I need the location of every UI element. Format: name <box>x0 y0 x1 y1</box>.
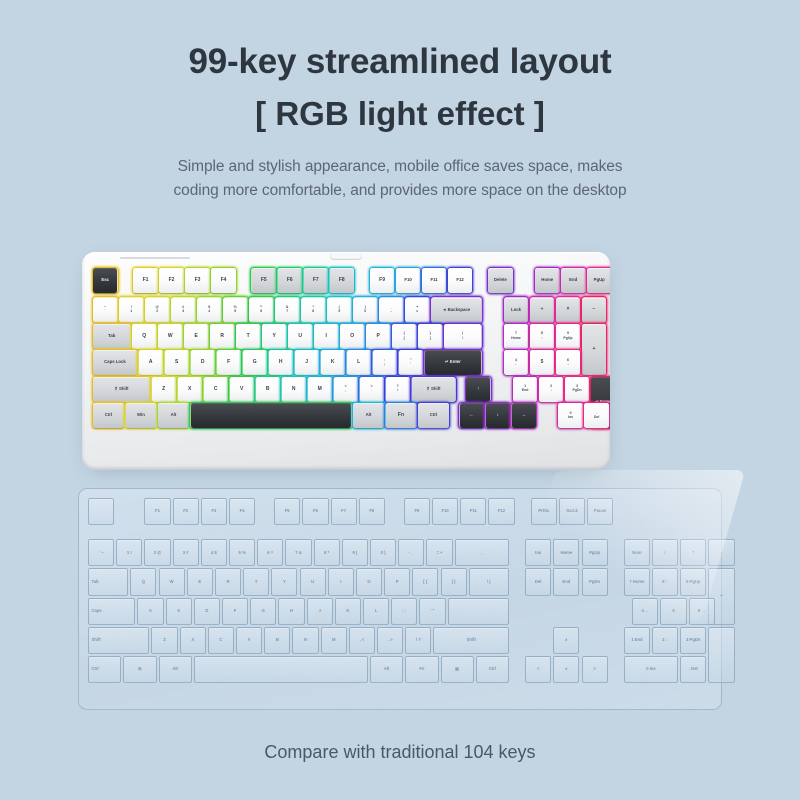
key-legend: Caps Lock <box>104 360 126 365</box>
ghost-key-legend: 3 # <box>183 551 189 555</box>
key-legend: += <box>416 306 418 314</box>
ghost-key-legend: F7 <box>341 509 346 513</box>
key-legend: 8↑ <box>541 332 543 340</box>
key-legend: R <box>220 334 224 339</box>
key-legend: I <box>326 334 327 339</box>
key-alt[interactable]: Alt <box>353 403 384 428</box>
ghost-key-legend: Home <box>561 551 573 555</box>
key-delete[interactable]: Delete <box>488 268 512 293</box>
key-legend: F1 <box>143 278 149 283</box>
ghost-key-legend: 0 Ins <box>646 667 656 671</box>
key-end[interactable]: 1End <box>513 377 537 402</box>
ghost-key-legend: ▤ <box>455 667 459 671</box>
key-f5[interactable]: F5 <box>252 268 276 293</box>
key-legend-bottom: Ins <box>568 416 573 420</box>
ghost-key-legend: ] } <box>452 580 456 584</box>
key-p[interactable]: P <box>366 324 390 349</box>
key-f11[interactable]: F11 <box>422 268 446 293</box>
key-tab[interactable]: Tab <box>93 324 130 349</box>
ghost-key-b: B <box>264 627 290 654</box>
key-u[interactable]: U <box>288 324 312 349</box>
ghost-key-key: - <box>708 539 734 566</box>
key-key[interactable]: → <box>512 403 536 428</box>
ghost-key-legend: 7 Home <box>629 580 644 584</box>
key-enter[interactable]: ↵ Enter <box>425 350 482 375</box>
ghost-key-legend: M <box>332 638 336 642</box>
key-legend-bottom: ` <box>105 310 106 314</box>
key-legend: ⇧ Shift <box>426 387 440 392</box>
key-legend-bottom: Home <box>511 337 521 341</box>
key-legend: .Del <box>594 412 599 420</box>
key-legend: × <box>567 307 570 312</box>
ghost-key-legend: Ins <box>535 551 541 555</box>
ghost-key-key: ∧ <box>553 627 579 654</box>
key-5[interactable]: 5 <box>530 350 554 375</box>
ghost-key-legend: , < <box>360 638 365 642</box>
ghost-key-legend: W <box>170 580 174 584</box>
key-ctrl[interactable]: Ctrl <box>418 403 449 428</box>
key-k[interactable]: K <box>321 350 345 375</box>
key-key[interactable]: |\ <box>444 324 481 349</box>
ghost-key-legend: F2 <box>183 509 188 513</box>
ghost-key-9-pgup: 9 PgUp <box>680 568 706 595</box>
key-f10[interactable]: F10 <box>396 268 420 293</box>
keyboard-case: EscF1F2F3F4F5F6F7F8F9F10F11F12DeleteHome… <box>82 252 610 470</box>
ghost-key-ins: Ins <box>525 539 551 566</box>
ghost-key-legend: / <box>665 551 666 555</box>
space-key[interactable] <box>191 403 352 428</box>
key-0[interactable]: )0 <box>353 298 377 323</box>
key-key[interactable]: 8↑ <box>530 324 554 349</box>
key-legend: Alt <box>171 413 177 418</box>
key-c[interactable]: C <box>204 377 228 402</box>
key-legend: ← <box>469 413 474 418</box>
key-shift[interactable]: ⇧ Shift <box>93 377 150 402</box>
key-legend: ↵ Enter <box>445 360 461 365</box>
ghost-key-legend: 4 ← <box>642 609 650 613</box>
key-i[interactable]: I <box>314 324 338 349</box>
hero-description-line-2: coding more comfortable, and provides mo… <box>0 179 800 203</box>
key-legend: N <box>292 387 296 392</box>
traditional-keyboard-outline: F1F2F3F4F5F6F7F8F9F10F11F12PrtScScrLkPau… <box>78 488 722 710</box>
key-key[interactable]: ?/ <box>386 377 410 402</box>
ghost-key-legend: 5 % <box>238 551 245 555</box>
ghost-key-legend: F10 <box>442 509 449 513</box>
key-legend: E <box>195 334 198 339</box>
key-alt[interactable]: Alt <box>158 403 189 428</box>
key-f6[interactable]: F6 <box>278 268 302 293</box>
rgb-keyboard-photo: EscF1F2F3F4F5F6F7F8F9F10F11F12DeleteHome… <box>82 252 610 470</box>
ghost-key-legend: \ | <box>487 580 491 584</box>
ghost-key-pause: Pause <box>587 498 613 525</box>
ghost-key-legend: 1 ! <box>127 551 132 555</box>
ghost-key-shift: Shift <box>433 627 509 654</box>
ghost-key-legend: Y <box>283 580 286 584</box>
ghost-key-3-pgdn: 3 PgDn <box>680 627 706 654</box>
hero-description: Simple and stylish appearance, mobile of… <box>0 155 800 203</box>
key-fn[interactable]: Fn <box>386 403 417 428</box>
ghost-key-legend: 6 ^ <box>267 551 273 555</box>
ghost-key-legend: N <box>304 638 307 642</box>
key-legend-bottom: , <box>345 389 346 393</box>
key-legend: ?/ <box>397 385 399 393</box>
key-legend: L <box>357 360 360 365</box>
ghost-key-legend: 2 ↓ <box>662 638 668 642</box>
page-title: 99-key streamlined layout <box>0 42 800 82</box>
key-legend: Ctrl <box>105 413 112 418</box>
ghost-key-f5: F5 <box>274 498 300 525</box>
ghost-key-caps: Caps <box>88 598 135 625</box>
ghost-key-legend: J <box>318 609 320 613</box>
key-key[interactable]: :; <box>373 350 397 375</box>
ghost-key-v: V <box>236 627 262 654</box>
key-q[interactable]: Q <box>132 324 156 349</box>
key-legend-bottom: - <box>391 310 392 314</box>
key-legend: ↑ <box>477 387 480 392</box>
key-a[interactable]: A <box>139 350 163 375</box>
key-legend: 9PgUp <box>563 332 572 340</box>
key-shift[interactable]: ⇧ Shift <box>412 377 456 402</box>
key-lock[interactable]: Lock <box>504 298 528 323</box>
key-w[interactable]: W <box>158 324 182 349</box>
key-end[interactable]: End <box>561 268 585 293</box>
key-key[interactable]: <, <box>334 377 358 402</box>
ghost-key-key: = + <box>426 539 452 566</box>
key-legend: S <box>175 360 178 365</box>
key-key[interactable]: _- <box>379 298 403 323</box>
ghost-key-legend: E <box>198 580 201 584</box>
key-5[interactable]: %5 <box>223 298 247 323</box>
ghost-key-legend: X <box>191 638 194 642</box>
ghost-key-legend: 4 $ <box>211 551 217 555</box>
key-legend-bottom: ← <box>514 363 518 367</box>
key-legend: H <box>279 360 283 365</box>
ghost-key-7: 7 & <box>285 539 311 566</box>
key-legend: ~` <box>104 306 106 314</box>
key-legend: Win <box>137 413 145 418</box>
ghost-key-legend: Alt <box>384 667 390 671</box>
ghost-key-key: , < <box>349 627 375 654</box>
key-v[interactable]: V <box>230 377 254 402</box>
ghost-key-legend: 7 & <box>295 551 302 555</box>
key-g[interactable]: G <box>243 350 267 375</box>
key-f9[interactable]: F9 <box>370 268 394 293</box>
ghost-key-end: End <box>553 568 579 595</box>
ghost-key-num: Num <box>624 539 650 566</box>
ghost-key-del: . Del <box>680 656 706 683</box>
ghost-key-f7: F7 <box>331 498 357 525</box>
ghost-key-legend: ; : <box>402 609 406 613</box>
hero-section: 99-key streamlined layout [ RGB light ef… <box>0 0 800 203</box>
key-legend-bottom: 6 <box>260 310 262 314</box>
key-f4[interactable]: F4 <box>211 268 235 293</box>
key-home[interactable]: Home <box>535 268 559 293</box>
key-legend-bottom: 8 <box>312 310 314 314</box>
key-x[interactable]: X <box>178 377 202 402</box>
key-legend-bottom: → <box>566 363 570 367</box>
key-2[interactable]: @2 <box>145 298 169 323</box>
key-pgup[interactable]: PgUp <box>587 268 610 293</box>
ghost-key-2: 2 ↓ <box>652 627 678 654</box>
key-backspace[interactable]: ◄ Backspace <box>431 298 481 323</box>
key-legend: Alt <box>366 413 372 418</box>
key-f1[interactable]: F1 <box>133 268 157 293</box>
ghost-key-legend: F4 <box>240 509 245 513</box>
key-3[interactable]: #3 <box>171 298 195 323</box>
key-8[interactable]: *8 <box>301 298 325 323</box>
key-legend: $4 <box>208 306 210 314</box>
ghost-key-key: ⊞ <box>123 656 156 683</box>
key-legend-bottom: 2 <box>156 310 158 314</box>
ghost-key-g: G <box>250 598 276 625</box>
key-legend: Home <box>541 278 553 283</box>
ghost-key-q: Q <box>130 568 156 595</box>
ghost-key-6: 6 ^ <box>257 539 283 566</box>
ghost-key-key: ; : <box>391 598 417 625</box>
ghost-key-legend: Caps <box>92 609 102 613</box>
ghost-key-5: 5 <box>660 598 686 625</box>
ghost-key-legend: F5 <box>285 509 290 513</box>
ghost-key-f6: F6 <box>302 498 328 525</box>
key-key[interactable]: 6→ <box>556 350 580 375</box>
ghost-key-pgup: PgUp <box>582 539 608 566</box>
key-legend: |\ <box>462 332 463 340</box>
key-key[interactable]: "' <box>399 350 423 375</box>
ghost-key-legend: F11 <box>470 509 477 513</box>
key-legend: F3 <box>195 278 201 283</box>
key-key[interactable]: ~` <box>93 298 117 323</box>
key-legend: Tab <box>108 334 115 339</box>
ghost-key-key <box>194 656 368 683</box>
key-key[interactable]: ← <box>460 403 484 428</box>
ghost-key-key: ▤ <box>441 656 474 683</box>
key-h[interactable]: H <box>269 350 293 375</box>
ghost-key-1: 1 ! <box>116 539 142 566</box>
ghost-key-fn: Fn <box>405 656 438 683</box>
key-del[interactable]: .Del <box>584 403 608 428</box>
key-legend: V <box>240 387 243 392</box>
key-legend: B <box>266 387 270 392</box>
key-esc[interactable]: Esc <box>93 268 117 293</box>
key-legend: }] <box>430 332 431 340</box>
key-ctrl[interactable]: Ctrl <box>93 403 124 428</box>
key-legend-bottom: 3 <box>182 310 184 314</box>
key-legend: 2↓ <box>550 385 552 393</box>
key-key[interactable]: ÷ <box>530 298 554 323</box>
ghost-key-e: E <box>187 568 213 595</box>
ghost-key-ctrl: Ctrl <box>476 656 509 683</box>
key-legend: 6→ <box>566 359 570 367</box>
key-o[interactable]: O <box>340 324 364 349</box>
key-legend: G <box>253 360 257 365</box>
key-key[interactable]: {[ <box>392 324 416 349</box>
key-home[interactable]: 7Home <box>504 324 528 349</box>
key-legend: Q <box>142 334 146 339</box>
ghost-key-d: D <box>194 598 220 625</box>
ghost-key-2: 2 @ <box>144 539 170 566</box>
ghost-key-z: Z <box>151 627 177 654</box>
key-legend: )0 <box>364 306 366 314</box>
key-key[interactable]: − <box>582 298 606 323</box>
ghost-key-f12: F12 <box>488 498 514 525</box>
ghost-key-key <box>448 598 509 625</box>
ghost-key-legend: ∧ <box>565 638 568 642</box>
key-r[interactable]: R <box>210 324 234 349</box>
key-legend-bottom: 9 <box>338 310 340 314</box>
ghost-key-legend: 6 → <box>698 609 706 613</box>
ghost-key-legend: / ? <box>416 638 421 642</box>
ghost-key-4: 4 $ <box>201 539 227 566</box>
key-legend-bottom: 0 <box>364 310 366 314</box>
key-s[interactable]: S <box>165 350 189 375</box>
ghost-key-s: S <box>166 598 192 625</box>
key-legend-bottom: 5 <box>234 310 236 314</box>
ghost-key-t: T <box>243 568 269 595</box>
key-f[interactable]: F <box>217 350 241 375</box>
key-legend: F7 <box>313 278 319 283</box>
ghost-key-key: ' " <box>419 598 445 625</box>
key-legend-bottom: End <box>522 389 529 393</box>
key-win[interactable]: Win <box>126 403 157 428</box>
ghost-key-0: 0 ) <box>370 539 396 566</box>
ghost-key-legend: End <box>562 580 570 584</box>
key-f12[interactable]: F12 <box>448 268 472 293</box>
ghost-key-ctrl: Ctrl <box>88 656 121 683</box>
key-e[interactable]: E <box>184 324 208 349</box>
ghost-key-legend: F1 <box>155 509 160 513</box>
ghost-key-legend: F12 <box>498 509 505 513</box>
key-z[interactable]: Z <box>152 377 176 402</box>
key-legend: P <box>377 334 380 339</box>
hero-description-line-1: Simple and stylish appearance, mobile of… <box>0 155 800 179</box>
key-key[interactable]: ↓ <box>486 403 510 428</box>
key-legend: D <box>201 360 205 365</box>
key-1[interactable]: !1 <box>119 298 143 323</box>
ghost-key-f8: F8 <box>359 498 385 525</box>
ghost-key-legend: F9 <box>414 509 419 513</box>
keyboard-keyplate: EscF1F2F3F4F5F6F7F8F9F10F11F12DeleteHome… <box>93 268 599 456</box>
key-key[interactable]: + <box>582 324 606 375</box>
key-legend: F8 <box>339 278 345 283</box>
key-legend: "' <box>410 359 412 367</box>
key-key[interactable]: 2↓ <box>539 377 563 402</box>
key-key[interactable]: × <box>556 298 580 323</box>
key-key[interactable]: += <box>405 298 429 323</box>
key-legend: U <box>298 334 302 339</box>
key-key[interactable]: ↑ <box>466 377 490 402</box>
key-legend-bottom: Del <box>594 416 599 420</box>
key-legend-bottom: . <box>371 389 372 393</box>
ghost-key-4: 4 ← <box>632 598 658 625</box>
key-legend-bottom: ' <box>410 363 411 367</box>
ghost-key-legend: Shift <box>92 638 101 642</box>
key-pgup[interactable]: 9PgUp <box>556 324 580 349</box>
key-legend: ↓ <box>497 413 500 418</box>
ghost-key-legend: 5 <box>672 609 674 613</box>
key-legend: T <box>247 334 250 339</box>
key-y[interactable]: Y <box>262 324 286 349</box>
ghost-key-l: L <box>363 598 389 625</box>
ghost-key-legend: ` ~ <box>99 551 104 555</box>
ghost-key-shift: Shift <box>88 627 149 654</box>
ghost-key-legend: F3 <box>211 509 216 513</box>
ghost-key-i: I <box>328 568 354 595</box>
ghost-key-legend: H <box>290 609 293 613</box>
key-legend: ⇧ Shift <box>114 387 128 392</box>
key-legend: ◄ Backspace <box>442 308 470 313</box>
ghost-key-legend: PrtSc <box>538 509 549 513</box>
key-legend: − <box>593 307 596 312</box>
key-legend: *8 <box>312 306 314 314</box>
key-6[interactable]: ^6 <box>249 298 273 323</box>
key-4[interactable]: $4 <box>197 298 221 323</box>
ghost-key-key: > <box>582 656 608 683</box>
key-legend: &7 <box>286 306 289 314</box>
key-legend: PgUp <box>594 278 605 283</box>
key-f8[interactable]: F8 <box>330 268 354 293</box>
key-key[interactable]: >. <box>360 377 384 402</box>
key-f7[interactable]: F7 <box>304 268 328 293</box>
ghost-key-legend: F8 <box>369 509 374 513</box>
key-legend-bottom: 7 <box>286 310 288 314</box>
key-l[interactable]: L <box>347 350 371 375</box>
ghost-key-key: \ | <box>469 568 509 595</box>
key-d[interactable]: D <box>191 350 215 375</box>
key-legend: F11 <box>431 278 438 283</box>
keyboard-top-badge <box>330 253 362 260</box>
key-legend: W <box>168 334 173 339</box>
key-j[interactable]: J <box>295 350 319 375</box>
ghost-key-legend: ∨ <box>565 667 568 671</box>
key-m[interactable]: M <box>308 377 332 402</box>
key-key[interactable]: }] <box>418 324 442 349</box>
key-ins[interactable]: 0Ins <box>558 403 582 428</box>
key-legend: Esc <box>101 278 109 283</box>
key-7[interactable]: &7 <box>275 298 299 323</box>
key-legend-bottom: / <box>397 389 398 393</box>
key-legend: F6 <box>287 278 293 283</box>
ghost-key-legend: PgDn <box>589 580 600 584</box>
key-f3[interactable]: F3 <box>185 268 209 293</box>
ghost-key-legend: Alt <box>172 667 178 671</box>
ghost-key-legend: Ctrl <box>92 667 99 671</box>
key-legend: End <box>569 278 577 283</box>
key-9[interactable]: (9 <box>327 298 351 323</box>
ghost-key-legend: Ctrl <box>489 667 496 671</box>
key-legend: F4 <box>221 278 227 283</box>
key-t[interactable]: T <box>236 324 260 349</box>
ghost-key-legend: 8 ↑ <box>662 580 668 584</box>
key-pgdn[interactable]: 3PgDn <box>565 377 589 402</box>
ghost-key-legend: R <box>226 580 229 584</box>
key-legend: ÷ <box>541 307 544 312</box>
key-f2[interactable]: F2 <box>159 268 183 293</box>
key-n[interactable]: N <box>282 377 306 402</box>
key-legend: F <box>227 360 230 365</box>
key-legend-bottom: ; <box>384 363 385 367</box>
key-legend: @2 <box>155 306 158 314</box>
key-key[interactable]: 4← <box>504 350 528 375</box>
key-b[interactable]: B <box>256 377 280 402</box>
key-caps-lock[interactable]: Caps Lock <box>93 350 137 375</box>
ghost-key-legend: ScrLk <box>566 509 578 513</box>
key-legend: 7Home <box>511 332 521 340</box>
key-legend: Lock <box>511 308 521 313</box>
ghost-key-legend: Z <box>163 638 166 642</box>
key-legend: 0Ins <box>568 412 573 420</box>
ghost-key-legend: Tab <box>92 580 99 584</box>
ghost-key-legend: S <box>177 609 180 613</box>
